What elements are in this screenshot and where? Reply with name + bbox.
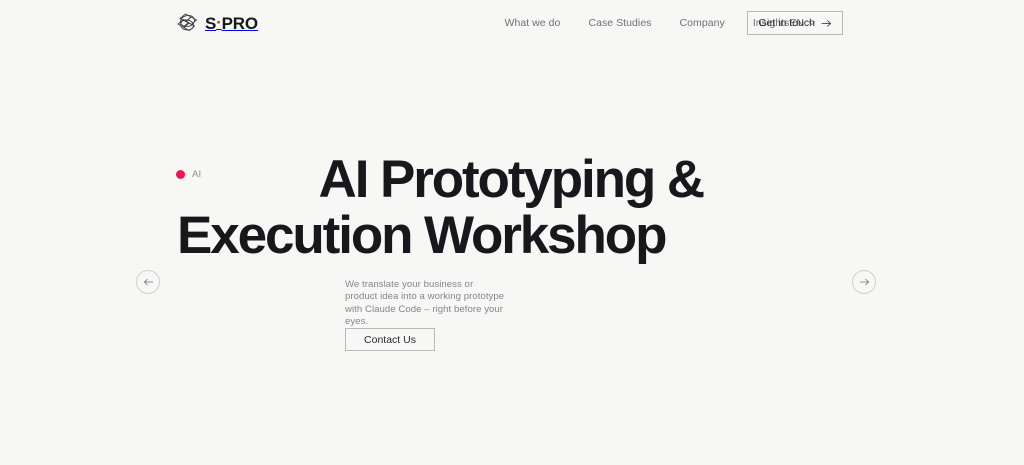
carousel-prev-button[interactable] [136, 270, 160, 294]
page-root: S·PRO What we do Case Studies Company In… [0, 0, 1024, 465]
arrow-right-icon [859, 277, 870, 287]
arrow-left-icon [143, 277, 154, 287]
contact-us-button[interactable]: Contact Us [345, 328, 435, 351]
hero-description: We translate your business or product id… [345, 279, 507, 329]
hero-section: AI AI Prototyping & Execution Workshop W… [0, 0, 1024, 465]
carousel-next-button[interactable] [852, 270, 876, 294]
headline-line-1: AI Prototyping & [160, 152, 705, 208]
headline-line-2: Execution Workshop [160, 208, 705, 264]
page-title: AI Prototyping & Execution Workshop [160, 152, 705, 264]
